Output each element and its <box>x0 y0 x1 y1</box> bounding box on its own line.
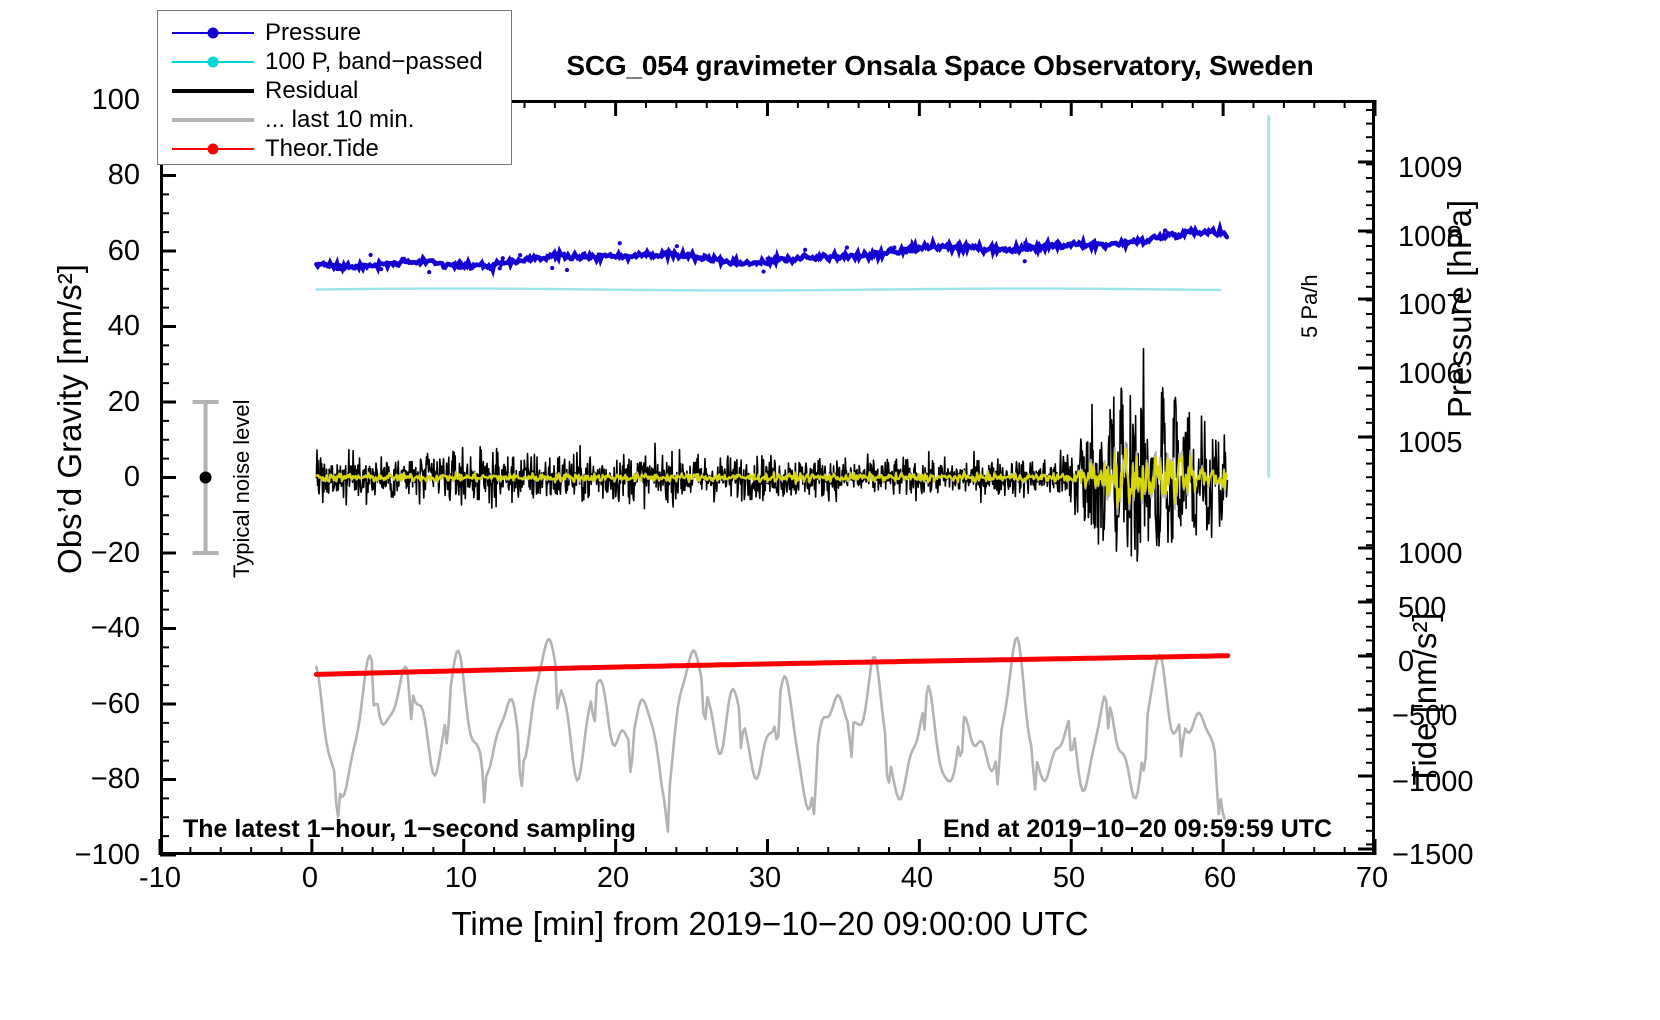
legend-label-band-passed: 100 P, band−passed <box>254 48 483 76</box>
legend-label-residual: Residual <box>254 77 358 105</box>
legend-item-last-10-min: ... last 10 min. <box>172 105 511 134</box>
legend-label-last-10-min: ... last 10 min. <box>254 106 414 134</box>
legend-swatch-theor-tide-icon <box>172 139 254 159</box>
legend-item-pressure: Pressure <box>172 18 511 47</box>
legend-label-pressure: Pressure <box>254 19 361 47</box>
legend-swatch-band-passed-icon <box>172 52 254 72</box>
annotation-scale-bar-5pa-per-hour: 5 Pa/h <box>1297 274 1323 338</box>
legend-item-band-passed: 100 P, band−passed <box>172 47 511 76</box>
annotation-typical-noise-level: Typical noise level <box>229 399 255 578</box>
legend-label-theor-tide: Theor.Tide <box>254 135 379 163</box>
annotation-latest-sampling: The latest 1−hour, 1−second sampling <box>183 815 636 844</box>
legend-swatch-last-10-min-icon <box>172 110 254 130</box>
legend-swatch-residual-icon <box>172 81 254 101</box>
annotation-end-time: End at 2019−10−20 09:59:59 UTC <box>943 815 1332 844</box>
figure-canvas: SCG_054 gravimeter Onsala Space Observat… <box>0 0 1660 1020</box>
legend-item-theor-tide: Theor.Tide <box>172 134 511 163</box>
legend: Pressure 100 P, band−passed Residual ...… <box>157 10 512 165</box>
legend-swatch-pressure-icon <box>172 23 254 43</box>
legend-item-residual: Residual <box>172 76 511 105</box>
